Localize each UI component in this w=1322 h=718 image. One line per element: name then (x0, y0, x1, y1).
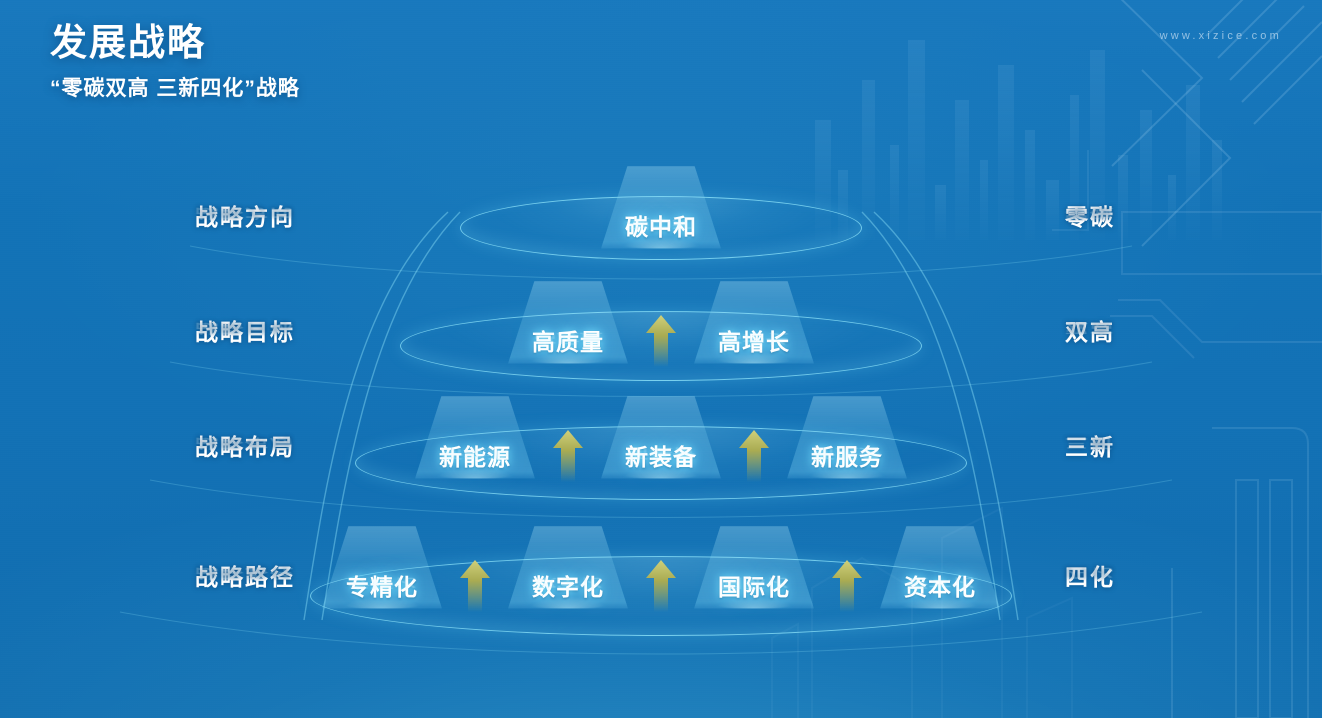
arrow-up-icon (632, 542, 690, 634)
node-label-reflection: 新服务 (783, 445, 911, 464)
strategy-node[interactable]: 国际化国际化 (690, 542, 818, 634)
row-right-label: 双高双高 (1065, 313, 1115, 347)
node-label-reflection: 资本化 (876, 575, 1004, 594)
strategy-diagram: 碳中和碳中和战略方向战略方向零碳零碳高质量高质量高增长高增长战略目标战略目标双高… (0, 150, 1322, 670)
node-label-reflection: 新装备 (597, 445, 725, 464)
row-right-label: 四化四化 (1065, 558, 1115, 592)
row-left-label: 战略目标战略目标 (195, 313, 295, 347)
arrow-up-icon (818, 542, 876, 634)
node-label-reflection: 新能源 (411, 445, 539, 464)
node-group: 专精化专精化数字化数字化国际化国际化资本化资本化 (318, 542, 1004, 634)
strategy-node[interactable]: 新能源新能源 (411, 412, 539, 504)
row-right-label-reflection: 三新 (1065, 435, 1115, 454)
node-group: 高质量高质量高增长高增长 (504, 297, 818, 389)
row-left-label: 战略路径战略路径 (195, 558, 295, 592)
page-subtitle: “零碳双高 三新四化”战略 (50, 72, 300, 102)
node-label-reflection: 专精化 (318, 575, 446, 594)
row-right-label-reflection: 双高 (1065, 320, 1115, 339)
header: 发展战略 “零碳双高 三新四化”战略 (50, 20, 300, 102)
row-right-label: 三新三新 (1065, 428, 1115, 462)
node-group: 新能源新能源新装备新装备新服务新服务 (411, 412, 911, 504)
row-left-label-reflection: 战略布局 (195, 435, 295, 454)
row-left-label-reflection: 战略路径 (195, 565, 295, 584)
row-right-label-reflection: 零碳 (1065, 205, 1115, 224)
arrow-up-icon (446, 542, 504, 634)
node-label-reflection: 高质量 (504, 330, 632, 349)
arrow-up-icon (725, 412, 783, 504)
row-right-label-reflection: 四化 (1065, 565, 1115, 584)
arrow-up-icon (632, 297, 690, 389)
node-label-reflection: 国际化 (690, 575, 818, 594)
row-right-label: 零碳零碳 (1065, 198, 1115, 232)
page-title: 发展战略 (50, 20, 300, 66)
strategy-node[interactable]: 新装备新装备 (597, 412, 725, 504)
row-left-label: 战略方向战略方向 (195, 198, 295, 232)
strategy-node[interactable]: 新服务新服务 (783, 412, 911, 504)
node-group: 碳中和碳中和 (597, 182, 725, 274)
arrow-up-icon (539, 412, 597, 504)
row-left-label-reflection: 战略目标 (195, 320, 295, 339)
slide-root: 发展战略 “零碳双高 三新四化”战略 www.xizice.com 碳中和碳中和… (0, 0, 1322, 718)
strategy-node[interactable]: 资本化资本化 (876, 542, 1004, 634)
strategy-node[interactable]: 数字化数字化 (504, 542, 632, 634)
watermark-url: www.xizice.com (1160, 30, 1282, 42)
node-label-reflection: 碳中和 (597, 215, 725, 234)
strategy-node[interactable]: 碳中和碳中和 (597, 182, 725, 274)
row-left-label-reflection: 战略方向 (195, 205, 295, 224)
node-label-reflection: 数字化 (504, 575, 632, 594)
strategy-node[interactable]: 高增长高增长 (690, 297, 818, 389)
node-label-reflection: 高增长 (690, 330, 818, 349)
strategy-node[interactable]: 专精化专精化 (318, 542, 446, 634)
strategy-node[interactable]: 高质量高质量 (504, 297, 632, 389)
row-left-label: 战略布局战略布局 (195, 428, 295, 462)
